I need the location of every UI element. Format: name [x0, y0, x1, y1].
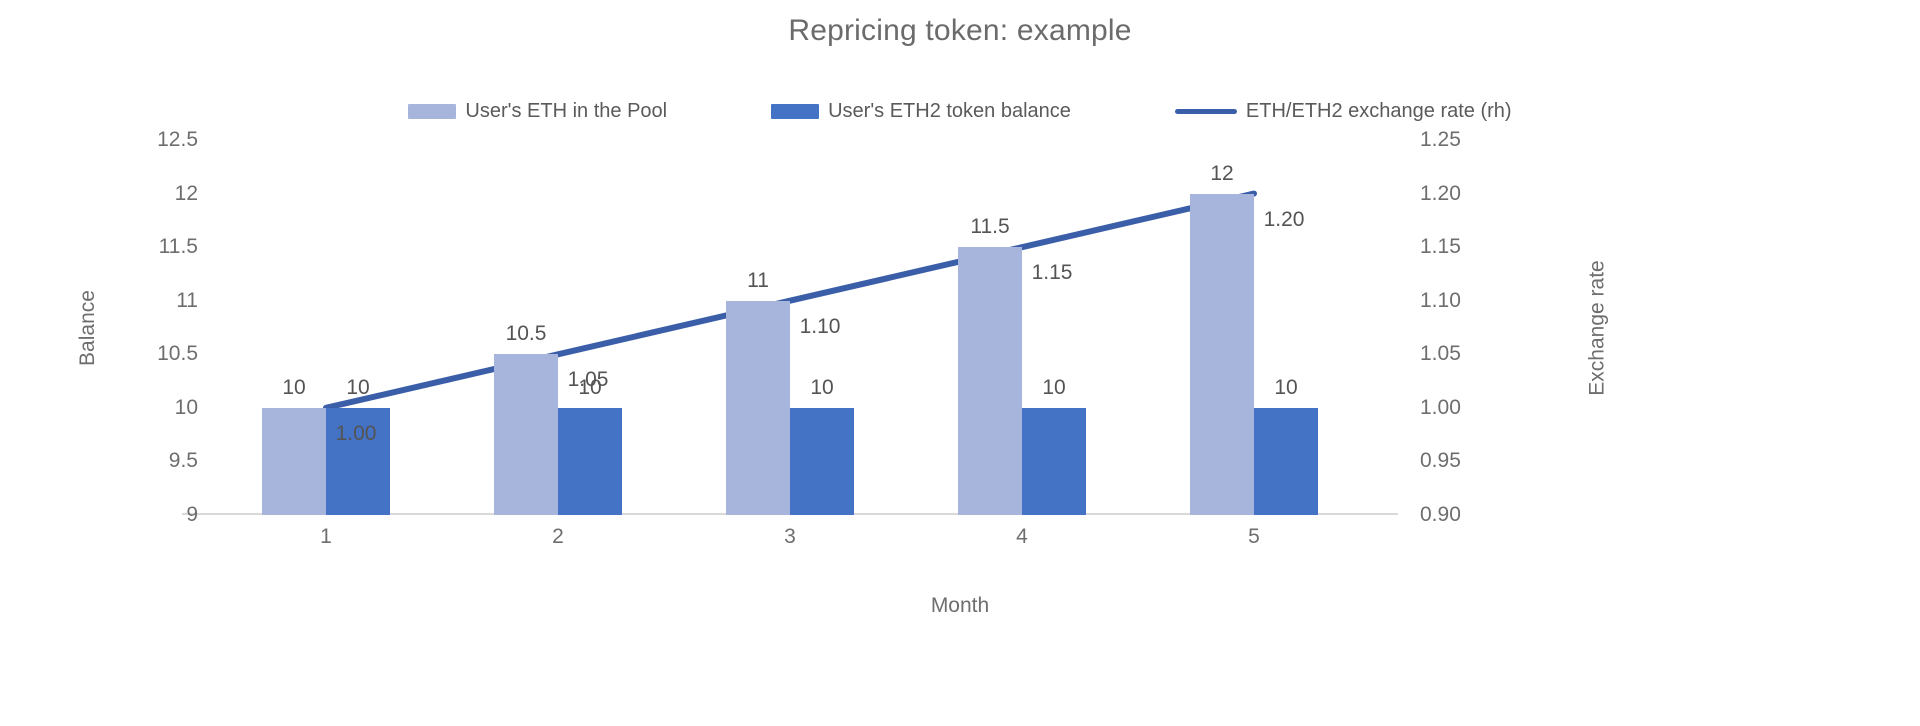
bar-eth-in-pool[interactable]: [958, 247, 1022, 515]
chart-canvas: Repricing token: example User's ETH in t…: [0, 0, 1920, 726]
x-axis-title: Month: [0, 594, 1920, 618]
legend-item-eth-in-pool[interactable]: User's ETH in the Pool: [408, 100, 667, 123]
legend-label-eth-in-pool: User's ETH in the Pool: [465, 100, 667, 123]
legend-item-exchange-rate[interactable]: ETH/ETH2 exchange rate (rh): [1175, 100, 1512, 123]
bar-label-eth-in-pool: 10: [282, 376, 305, 400]
plot-area: Balance Exchange rate 12.51211.51110.510…: [210, 140, 1370, 515]
y-axis-left-tick: 10: [88, 396, 198, 420]
y-axis-left-tick: 12: [88, 182, 198, 206]
legend-swatch-icon-eth2-balance: [771, 104, 819, 119]
bar-label-eth-in-pool: 10.5: [506, 322, 547, 346]
line-label-exchange-rate: 1.05: [568, 368, 609, 392]
x-axis-tick: 2: [552, 525, 564, 549]
bar-label-eth2-balance: 10: [810, 376, 833, 400]
line-label-exchange-rate: 1.20: [1264, 208, 1305, 232]
bar-eth2-balance[interactable]: [558, 408, 622, 515]
legend-line-icon-exchange-rate: [1175, 109, 1237, 114]
bar-label-eth2-balance: 10: [1274, 376, 1297, 400]
y-axis-left-tick: 12.5: [88, 128, 198, 152]
x-axis-tick: 4: [1016, 525, 1028, 549]
line-path-exchange-rate: [326, 194, 1254, 408]
legend-label-exchange-rate: ETH/ETH2 exchange rate (rh): [1246, 100, 1512, 123]
y-axis-right-tick: 1.25: [1420, 128, 1530, 152]
line-label-exchange-rate: 1.10: [800, 315, 841, 339]
bar-eth2-balance[interactable]: [1254, 408, 1318, 515]
bar-eth2-balance[interactable]: [1022, 408, 1086, 515]
x-axis-tick: 1: [320, 525, 332, 549]
y-axis-right-tick: 0.95: [1420, 449, 1530, 473]
y-axis-right-tick: 1.20: [1420, 182, 1530, 206]
line-label-exchange-rate: 1.15: [1032, 261, 1073, 285]
y-axis-right-tick: 1.00: [1420, 396, 1530, 420]
chart-title: Repricing token: example: [0, 14, 1920, 48]
y-axis-right-tick: 1.05: [1420, 342, 1530, 366]
y-axis-left-tick: 11: [88, 289, 198, 313]
y-axis-left-tick: 9: [88, 503, 198, 527]
bar-label-eth2-balance: 10: [346, 376, 369, 400]
bar-label-eth-in-pool: 11: [747, 269, 769, 293]
y-axis-left-tick: 9.5: [88, 449, 198, 473]
y-axis-right-tick: 1.15: [1420, 235, 1530, 259]
y-axis-right-title: Exchange rate: [1586, 260, 1610, 395]
line-label-exchange-rate: 1.00: [336, 422, 377, 446]
bar-eth2-balance[interactable]: [790, 408, 854, 515]
y-axis-right-tick: 0.90: [1420, 503, 1530, 527]
bar-label-eth-in-pool: 11.5: [970, 215, 1009, 239]
bar-eth-in-pool[interactable]: [726, 301, 790, 515]
bar-eth-in-pool[interactable]: [1190, 194, 1254, 515]
legend-label-eth2-balance: User's ETH2 token balance: [828, 100, 1071, 123]
bar-label-eth2-balance: 10: [1042, 376, 1065, 400]
y-axis-right-tick: 1.10: [1420, 289, 1530, 313]
x-axis-tick: 5: [1248, 525, 1260, 549]
legend-swatch-icon-eth-in-pool: [408, 104, 456, 119]
bar-eth-in-pool[interactable]: [262, 408, 326, 515]
bar-eth-in-pool[interactable]: [494, 354, 558, 515]
chart-legend: User's ETH in the Pool User's ETH2 token…: [0, 100, 1920, 123]
y-axis-left-tick: 11.5: [88, 235, 198, 259]
y-axis-left-tick: 10.5: [88, 342, 198, 366]
x-axis-tick: 3: [784, 525, 796, 549]
legend-item-eth2-balance[interactable]: User's ETH2 token balance: [771, 100, 1071, 123]
bar-label-eth-in-pool: 12: [1210, 162, 1233, 186]
